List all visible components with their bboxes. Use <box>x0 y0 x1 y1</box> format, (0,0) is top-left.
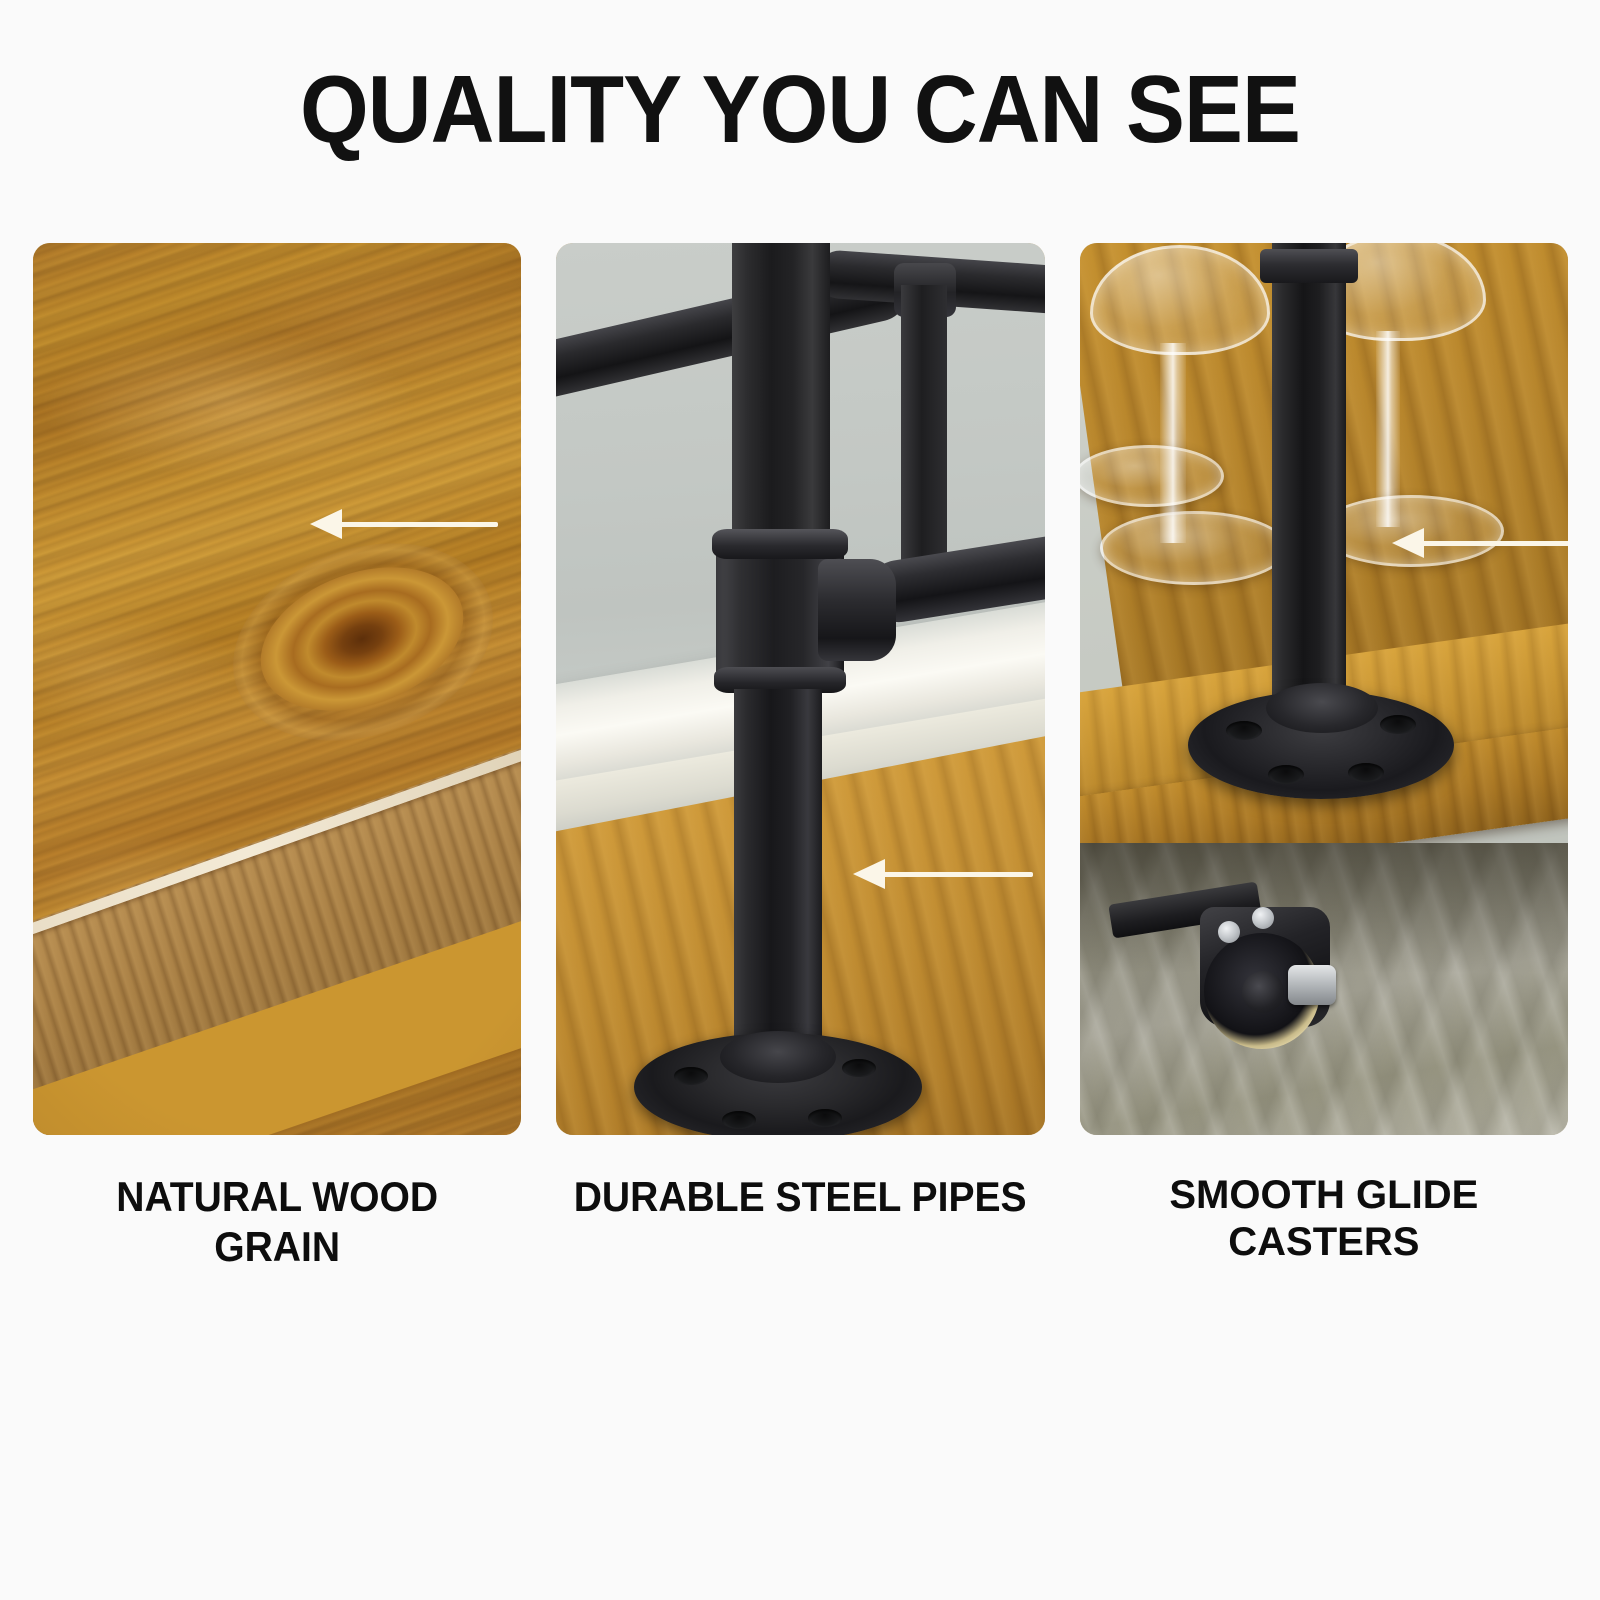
arrow-head-left-icon <box>1392 528 1424 558</box>
steel-pipe-cap <box>1260 249 1358 283</box>
floor-flange-hub <box>720 1031 836 1083</box>
callout-arrow-casters <box>1392 526 1568 560</box>
arrow-head-left-icon <box>853 859 885 889</box>
wine-glass-foot-left <box>1100 511 1288 585</box>
caster-screw-2 <box>1252 907 1274 929</box>
steel-pipe-lower-vertical <box>734 689 822 1055</box>
feature-image-smooth-glide-casters[interactable] <box>1080 243 1568 1135</box>
wine-glass-foot-far-left <box>1080 445 1224 507</box>
arrow-shaft <box>1420 541 1568 546</box>
caster-wheel-hub <box>1242 971 1284 1013</box>
feature-image-durable-steel-pipes[interactable] <box>556 243 1044 1135</box>
floor-flange-hub <box>1266 683 1378 733</box>
tee-collar-top <box>712 529 848 559</box>
flange-bolt-hole-1 <box>1226 721 1262 740</box>
photo-vignette <box>33 243 521 1135</box>
flange-bolt-hole-4 <box>1348 763 1384 782</box>
feature-panel-gallery <box>33 243 1568 1135</box>
arrow-shaft <box>338 522 498 527</box>
caption-smooth-glide-casters: SMOOTH GLIDE CASTERS <box>1080 1172 1568 1332</box>
caption-natural-wood-grain: NATURAL WOOD GRAIN <box>50 1172 504 1332</box>
caption-durable-steel-pipes: DURABLE STEEL PIPES <box>573 1172 1027 1332</box>
callout-arrow-steel-pipes <box>853 857 1033 891</box>
feature-caption-row: NATURAL WOOD GRAIN DURABLE STEEL PIPES S… <box>33 1172 1568 1332</box>
page-title: QUALITY YOU CAN SEE <box>64 62 1536 158</box>
steel-pipe-rear-vertical <box>901 285 947 585</box>
feature-image-natural-wood-grain[interactable] <box>33 243 521 1135</box>
steel-pipe-upper-vertical <box>732 243 830 545</box>
arrow-head-left-icon <box>310 509 342 539</box>
flange-bolt-hole-2 <box>1380 715 1416 734</box>
steel-pipe-post <box>1272 243 1346 713</box>
caster-screw-1 <box>1218 921 1240 943</box>
flange-bolt-hole-3 <box>1268 765 1304 784</box>
arrow-shaft <box>881 872 1033 877</box>
tee-side-outlet <box>818 559 896 661</box>
caster-axle-bolt <box>1288 965 1336 1005</box>
callout-arrow-wood-grain <box>310 507 498 541</box>
